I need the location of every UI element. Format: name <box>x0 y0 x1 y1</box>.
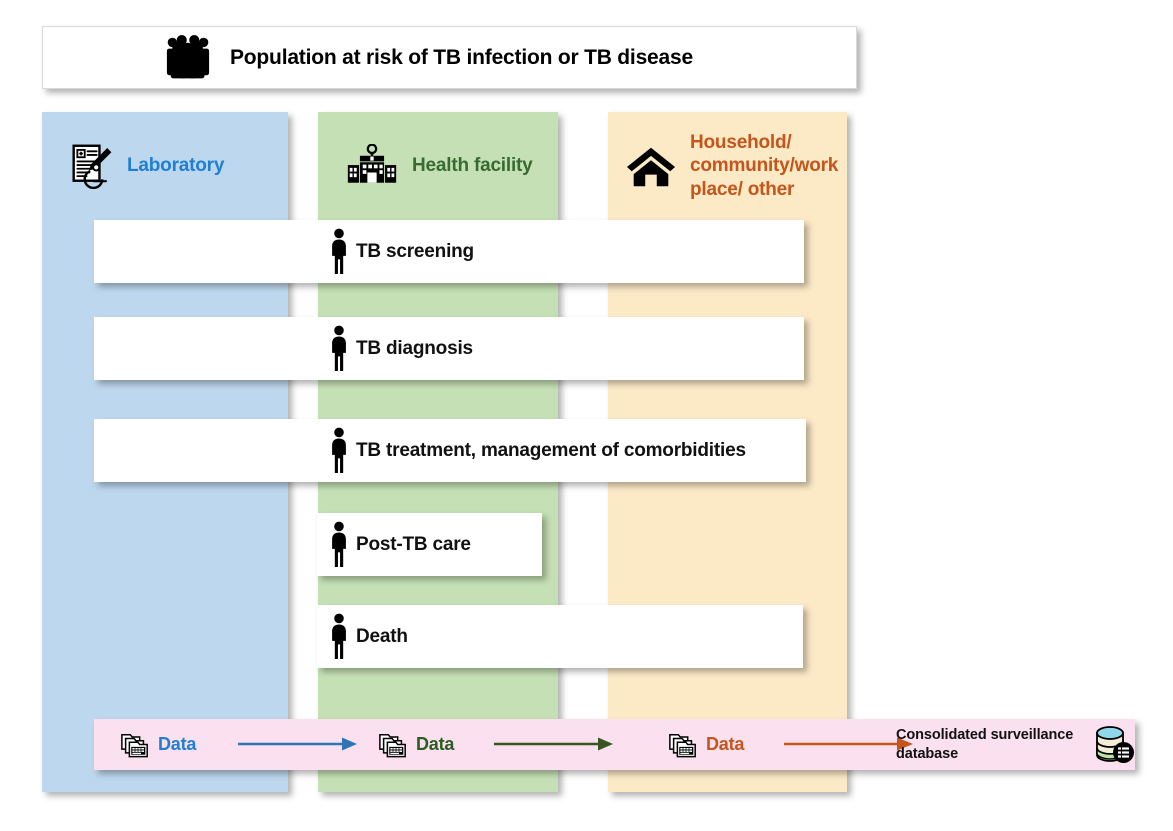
data-files-icon <box>120 730 150 760</box>
column-laboratory-header: Laboratory <box>42 112 288 220</box>
data-node-household: Data <box>668 719 744 770</box>
column-health-facility-label: Health facility <box>412 154 533 177</box>
data-node-laboratory: Data <box>120 719 196 770</box>
data-files-icon <box>668 730 698 760</box>
diagram-canvas: Population at risk of TB infection or TB… <box>0 0 1173 831</box>
arrow-laboratory-to-health-facility <box>238 736 358 752</box>
population-at-risk-banner: Population at risk of TB infection or TB… <box>42 26 857 89</box>
person-icon <box>326 521 352 567</box>
process-bar-death: Death <box>317 605 803 668</box>
group-of-people-icon <box>163 34 213 82</box>
column-health-facility-header: Health facility <box>318 112 558 220</box>
process-bar-tb-treatment: TB treatment, management of comorbiditie… <box>94 419 806 482</box>
lab-report-microscope-icon <box>70 143 116 189</box>
person-icon <box>326 325 352 371</box>
process-bar-death-label: Death <box>356 626 408 648</box>
process-bar-post-tb-care: Post-TB care <box>317 513 542 576</box>
process-bar-tb-treatment-label: TB treatment, management of comorbiditie… <box>356 440 746 462</box>
arrow-household-to-database <box>784 736 914 752</box>
data-node-health-facility-label: Data <box>416 734 454 755</box>
column-household-label: Household/ community/work place/ other <box>690 131 838 201</box>
person-icon <box>326 228 352 274</box>
column-laboratory-label: Laboratory <box>127 154 224 177</box>
hospital-building-icon <box>346 144 398 188</box>
consolidated-database-node: Consolidated surveillance database <box>896 719 1136 770</box>
process-bar-post-tb-care-label: Post-TB care <box>356 534 471 556</box>
data-node-health-facility: Data <box>378 719 454 770</box>
arrow-health-facility-to-household <box>494 736 614 752</box>
consolidated-database-text: Consolidated surveillance database <box>896 726 1086 762</box>
person-icon <box>326 427 352 473</box>
process-bar-tb-screening-label: TB screening <box>356 241 474 263</box>
population-banner-label: Population at risk of TB infection or TB… <box>230 46 693 70</box>
person-icon <box>326 613 352 659</box>
data-flow-strip: Data <box>94 719 1135 770</box>
data-node-laboratory-label: Data <box>158 734 196 755</box>
column-household-header: Household/ community/work place/ other <box>608 112 847 220</box>
process-bar-tb-diagnosis-label: TB diagnosis <box>356 338 473 360</box>
house-icon <box>626 143 676 189</box>
process-bar-tb-diagnosis: TB diagnosis <box>94 317 804 380</box>
data-node-household-label: Data <box>706 734 744 755</box>
data-files-icon <box>378 730 408 760</box>
consolidated-database-line2: database <box>896 746 958 762</box>
database-cylinder-icon <box>1092 725 1136 765</box>
process-bar-tb-screening: TB screening <box>94 220 804 283</box>
consolidated-database-line1: Consolidated surveillance <box>896 727 1073 743</box>
